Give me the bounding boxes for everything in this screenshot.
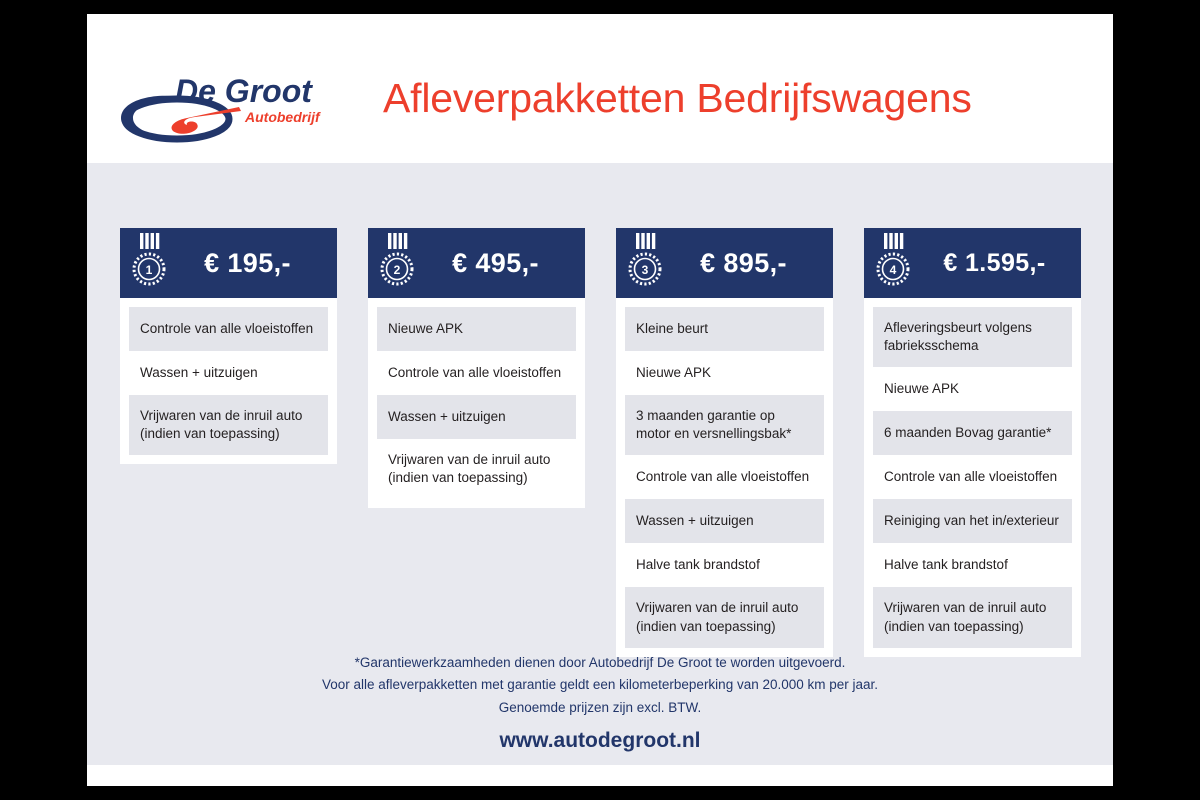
list-item-label: 3 maanden garantie op motor en versnelli… [636,407,813,443]
package-feature-list-2: Nieuwe APK Controle van alle vloeistoffe… [368,298,585,508]
package-feature-list-3: Kleine beurt Nieuwe APK 3 maanden garant… [616,298,833,657]
list-item: 6 maanden Bovag garantie* [873,411,1072,455]
list-item-label: Wassen + uitzuigen [388,408,506,426]
list-item: Controle van alle vloeistoffen [377,351,576,395]
list-item: Wassen + uitzuigen [129,351,328,395]
list-item-label: Afleveringsbeurt volgens fabrieksschema [884,319,1061,355]
list-item: Vrijwaren van de inruil auto (indien van… [625,587,824,647]
list-item: Controle van alle vloeistoffen [129,307,328,351]
footnote-line-2: Voor alle afleverpakketten met garantie … [87,674,1113,696]
package-card-3: 3 € 895,- Kleine beurt Nieuwe APK 3 maan… [616,228,833,657]
medal-number: 2 [394,263,401,277]
list-item-label: Controle van alle vloeistoffen [884,468,1057,486]
package-card-1: 1 € 195,- Controle van alle vloeistoffen… [120,228,337,464]
list-item-label: 6 maanden Bovag garantie* [884,424,1051,442]
list-item-label: Vrijwaren van de inruil auto (indien van… [140,407,317,443]
header-band: De Groot Autobedrijf Afleverpakketten Be… [87,14,1113,163]
list-item: Kleine beurt [625,307,824,351]
logo-tagline: Autobedrijf [244,109,321,125]
website-url[interactable]: www.autodegroot.nl [87,729,1113,753]
package-price: € 1.595,- [910,249,1081,278]
list-item-label: Reiniging van het in/exterieur [884,512,1059,530]
list-item-label: Wassen + uitzuigen [636,512,754,530]
footnotes: *Garantiewerkzaamheden dienen door Autob… [87,652,1113,719]
list-item-label: Wassen + uitzuigen [140,364,258,382]
list-item-label: Vrijwaren van de inruil auto (indien van… [636,599,813,635]
list-item: Wassen + uitzuigen [377,395,576,439]
logo-wordmark: De Groot [175,73,313,109]
package-price: € 895,- [662,248,833,279]
package-header-2: 2 € 495,- [368,228,585,298]
list-item: Nieuwe APK [873,367,1072,411]
list-item-label: Nieuwe APK [884,380,959,398]
list-item: Vrijwaren van de inruil auto (indien van… [129,395,328,455]
package-cards: 1 € 195,- Controle van alle vloeistoffen… [120,228,1082,657]
de-groot-logo: De Groot Autobedrijf [115,70,345,150]
list-item: Reiniging van het in/exterieur [873,499,1072,543]
medal-number: 3 [642,263,649,277]
list-item: Controle van alle vloeistoffen [873,455,1072,499]
list-item: Afleveringsbeurt volgens fabrieksschema [873,307,1072,367]
list-item-label: Vrijwaren van de inruil auto (indien van… [388,451,565,487]
medal-number: 4 [890,263,897,277]
list-item: 3 maanden garantie op motor en versnelli… [625,395,824,455]
package-feature-list-4: Afleveringsbeurt volgens fabrieksschema … [864,298,1081,657]
list-item-label: Kleine beurt [636,320,708,338]
package-header-3: 3 € 895,- [616,228,833,298]
list-item: Wassen + uitzuigen [625,499,824,543]
package-feature-list-1: Controle van alle vloeistoffen Wassen + … [120,298,337,464]
poster-canvas: De Groot Autobedrijf Afleverpakketten Be… [87,14,1113,786]
medal-number: 1 [146,263,153,277]
list-item-label: Halve tank brandstof [636,556,760,574]
list-item-label: Nieuwe APK [636,364,711,382]
logo-graphic: De Groot Autobedrijf [115,70,345,150]
list-item: Vrijwaren van de inruil auto (indien van… [873,587,1072,647]
list-item-label: Controle van alle vloeistoffen [636,468,809,486]
list-item: Nieuwe APK [625,351,824,395]
medal-icon: 3 [628,233,662,293]
package-price: € 195,- [166,248,337,279]
list-item: Halve tank brandstof [873,543,1072,587]
footnote-line-1: *Garantiewerkzaamheden dienen door Autob… [87,652,1113,674]
package-header-4: 4 € 1.595,- [864,228,1081,298]
medal-icon: 2 [380,233,414,293]
page-title: Afleverpakketten Bedrijfswagens [383,75,972,122]
list-item: Nieuwe APK [377,307,576,351]
list-item-label: Vrijwaren van de inruil auto (indien van… [884,599,1061,635]
package-card-4: 4 € 1.595,- Afleveringsbeurt volgens fab… [864,228,1081,657]
package-price: € 495,- [414,248,585,279]
list-item: Controle van alle vloeistoffen [625,455,824,499]
bottom-band [87,765,1113,786]
list-item-label: Controle van alle vloeistoffen [140,320,313,338]
medal-icon: 4 [876,233,910,293]
list-item: Halve tank brandstof [625,543,824,587]
medal-icon: 1 [132,233,166,293]
footnote-line-3: Genoemde prijzen zijn excl. BTW. [87,697,1113,719]
package-card-2: 2 € 495,- Nieuwe APK Controle van alle v… [368,228,585,508]
list-item: Vrijwaren van de inruil auto (indien van… [377,439,576,499]
list-item-label: Controle van alle vloeistoffen [388,364,561,382]
package-header-1: 1 € 195,- [120,228,337,298]
list-item-label: Halve tank brandstof [884,556,1008,574]
list-item-label: Nieuwe APK [388,320,463,338]
